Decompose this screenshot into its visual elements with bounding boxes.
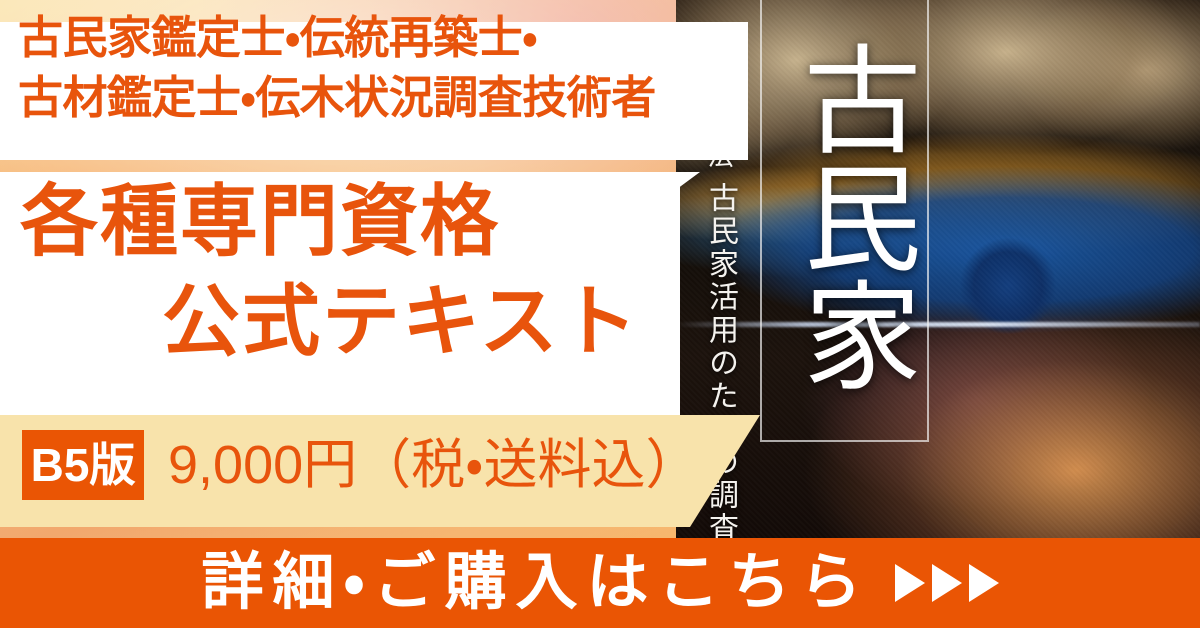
format-badge-b5: B5版 xyxy=(22,430,144,500)
price-text: 9,000円（税・送料込） xyxy=(168,432,700,498)
headline-line-2: 公式テキスト xyxy=(162,282,640,360)
cta-label: 詳細・ご購入はこちら xyxy=(201,552,870,614)
carved-temple-woodwork-artwork xyxy=(676,0,1200,540)
cta-bar[interactable]: 詳細・ご購入はこちら xyxy=(0,538,1200,628)
triangle-right-icon xyxy=(969,564,999,602)
triangle-right-icon xyxy=(932,564,962,602)
book-cover-photo: 古民家 伝統構法 古民家活用のための調査と再生の xyxy=(676,0,1200,540)
qualifications-text: 古民家鑑定士・伝統再築士・ 古材鑑定士・伝木状況調査技術者 xyxy=(18,8,734,129)
cta-arrow-group xyxy=(895,564,999,602)
cover-title: 古民家 xyxy=(768,6,918,426)
promo-banner: 古民家 伝統構法 古民家活用のための調査と再生の 古民家鑑定士・伝統再築士・ 古… xyxy=(0,0,1200,628)
headline-line-1: 各種専門資格 xyxy=(20,182,500,260)
light-streak xyxy=(676,322,1200,327)
triangle-right-icon xyxy=(895,564,925,602)
